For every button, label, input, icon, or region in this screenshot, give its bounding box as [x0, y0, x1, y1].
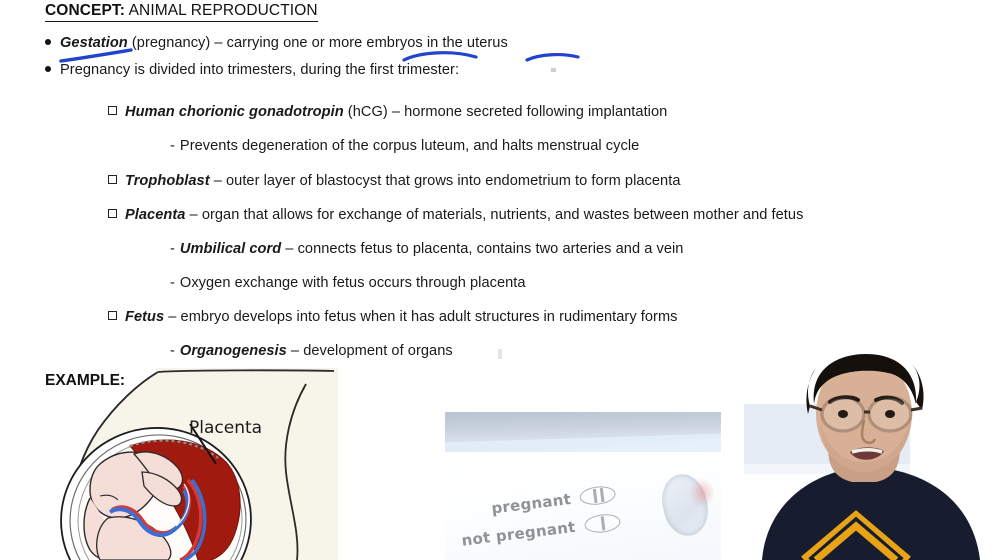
dash-marker-icon: -	[170, 275, 175, 291]
text-gestation: (pregnancy) – carrying one or more embry…	[128, 35, 508, 51]
bullet-trimesters: Pregnancy is divided into trimesters, du…	[45, 62, 459, 78]
dash-marker-icon: -	[170, 138, 175, 154]
cursor-artifact	[498, 349, 502, 359]
item-oxygen-exchange: -Oxygen exchange with fetus occurs throu…	[170, 275, 526, 291]
text-hcg: (hCG) – hormone secreted following impla…	[344, 104, 668, 120]
item-umbilical-cord: -Umbilical cord – connects fetus to plac…	[170, 241, 683, 257]
text-oxygen-exchange: Oxygen exchange with fetus occurs throug…	[180, 275, 526, 291]
term-trophoblast: Trophoblast	[125, 173, 210, 189]
dash-marker-icon: -	[170, 241, 175, 257]
presenter-webcam-overlay	[744, 352, 1000, 560]
term-fetus: Fetus	[125, 309, 164, 325]
term-organogenesis: Organogenesis	[180, 343, 287, 359]
pregnancy-test-photo: pregnant not pregnant	[445, 412, 721, 560]
cursor-artifact	[551, 68, 556, 72]
term-hcg: Human chorionic gonadotropin	[125, 104, 344, 120]
square-bullet-icon	[108, 175, 117, 184]
text-fetus: – embryo develops into fetus when it has…	[164, 309, 677, 325]
bullet-dot-icon	[45, 66, 51, 72]
square-bullet-icon	[108, 311, 117, 320]
text-corpus-luteum: Prevents degeneration of the corpus lute…	[180, 138, 639, 154]
text-placenta: – organ that allows for exchange of mate…	[185, 207, 803, 223]
dash-marker-icon: -	[170, 343, 175, 359]
term-gestation: Gestation	[60, 35, 128, 51]
text-organogenesis: – development of organs	[287, 343, 453, 359]
item-placenta: Placenta – organ that allows for exchang…	[108, 207, 803, 223]
term-placenta: Placenta	[125, 207, 185, 223]
item-hcg: Human chorionic gonadotropin (hCG) – hor…	[108, 104, 667, 120]
item-fetus: Fetus – embryo develops into fetus when …	[108, 309, 678, 325]
item-trophoblast: Trophoblast – outer layer of blastocyst …	[108, 173, 681, 189]
annotation-underline-uterus	[522, 48, 592, 70]
square-bullet-icon	[108, 106, 117, 115]
item-organogenesis: -Organogenesis – development of organs	[170, 343, 453, 359]
text-umbilical-cord: – connects fetus to placenta, contains t…	[281, 241, 683, 257]
term-umbilical-cord: Umbilical cord	[180, 241, 281, 257]
placenta-label: Placenta	[189, 418, 262, 438]
bullet-gestation: Gestation (pregnancy) – carrying one or …	[45, 35, 508, 51]
page-title-rest: ANIMAL REPRODUCTION	[125, 2, 318, 19]
page-title: CONCEPT: ANIMAL REPRODUCTION	[45, 2, 318, 22]
text-trimesters: Pregnancy is divided into trimesters, du…	[60, 62, 459, 78]
test-pink-highlight	[689, 478, 715, 508]
square-bullet-icon	[108, 209, 117, 218]
page-title-bold: CONCEPT:	[45, 2, 125, 19]
lecture-slide: CONCEPT: ANIMAL REPRODUCTION Gestation (…	[0, 0, 1000, 560]
item-corpus-luteum: -Prevents degeneration of the corpus lut…	[170, 138, 639, 154]
text-trophoblast: – outer layer of blastocyst that grows i…	[210, 173, 681, 189]
bullet-dot-icon	[45, 39, 51, 45]
fetus-in-uterus-diagram	[38, 368, 338, 560]
